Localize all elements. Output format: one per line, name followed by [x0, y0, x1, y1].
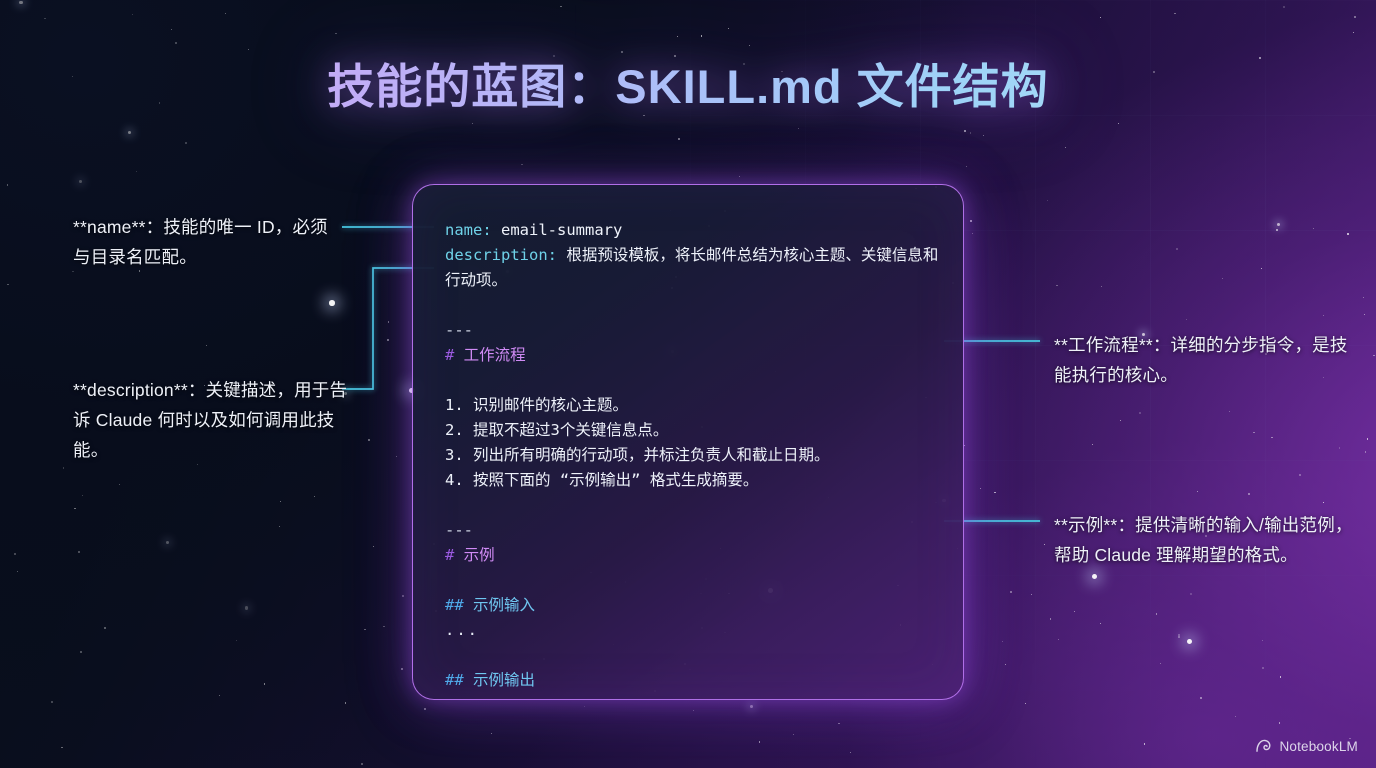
star-particle	[1235, 716, 1236, 717]
star-particle	[1347, 233, 1349, 235]
code-blank-line	[445, 293, 949, 318]
star-particle	[1280, 676, 1281, 677]
star-particle	[621, 51, 623, 53]
star-particle	[44, 18, 45, 19]
slide-canvas: 技能的蓝图：SKILL.md 文件结构 name: email-summaryd…	[0, 0, 1376, 768]
star-particle	[728, 28, 729, 29]
star-particle	[128, 131, 131, 134]
star-particle	[739, 176, 740, 177]
star-particle	[1283, 6, 1285, 8]
code-line-ellipsis: ...	[445, 618, 949, 643]
watermark-label: NotebookLM	[1279, 739, 1358, 754]
star-particle	[19, 1, 22, 4]
star-particle	[225, 13, 226, 14]
star-particle	[1050, 618, 1051, 619]
star-particle	[17, 571, 18, 572]
star-particle	[1190, 593, 1192, 595]
star-particle	[1262, 667, 1263, 668]
star-particle	[1313, 228, 1314, 229]
annotation-description: **description**：关键描述，用于告诉 Claude 何时以及如何调…	[73, 375, 361, 465]
star-particle	[402, 595, 404, 597]
star-particle	[1010, 591, 1012, 593]
star-particle	[1139, 412, 1141, 414]
star-particle	[1074, 611, 1075, 612]
star-particle	[314, 496, 315, 497]
star-particle	[1056, 285, 1057, 286]
star-particle	[750, 705, 753, 708]
star-particle	[1005, 664, 1006, 665]
star-particle	[388, 321, 389, 322]
star-particle	[1200, 697, 1202, 699]
code-line-keyvalue: name: email-summary	[445, 218, 949, 243]
star-particle	[424, 708, 426, 710]
star-particle	[1058, 639, 1059, 640]
star-particle	[82, 495, 83, 496]
code-line-heading1: # 示例	[445, 543, 949, 568]
star-particle	[693, 710, 694, 711]
star-particle	[219, 695, 220, 696]
star-particle	[1276, 229, 1278, 231]
star-particle	[61, 747, 62, 748]
star-particle	[970, 220, 972, 222]
star-particle	[1174, 13, 1175, 14]
star-particle	[7, 284, 8, 285]
code-blank-line	[445, 643, 949, 668]
star-particle	[1144, 743, 1145, 744]
star-particle	[1277, 223, 1280, 226]
annotation-workflow: **工作流程**：详细的分步指令，是技能执行的核心。	[1054, 330, 1354, 390]
code-line-listitem: 1. 识别邮件的核心主题。	[445, 393, 949, 418]
star-particle	[677, 36, 678, 37]
star-particle	[1156, 613, 1157, 614]
star-particle	[584, 706, 585, 707]
star-particle	[994, 492, 995, 493]
star-particle	[1262, 640, 1263, 641]
notebooklm-watermark: NotebookLM	[1255, 738, 1358, 754]
star-particle	[970, 132, 971, 133]
star-particle	[1044, 544, 1045, 545]
page-title: 技能的蓝图：SKILL.md 文件结构	[0, 58, 1376, 117]
star-particle	[119, 484, 120, 485]
star-particle	[166, 541, 169, 544]
star-particle	[1160, 663, 1161, 664]
star-particle	[1222, 278, 1223, 279]
star-particle	[674, 55, 676, 57]
code-line-listitem: 2. 提取不超过3个关键信息点。	[445, 418, 949, 443]
star-particle	[1367, 438, 1368, 439]
star-particle	[850, 752, 851, 753]
star-particle	[1120, 420, 1121, 421]
star-particle	[1178, 636, 1180, 638]
star-particle	[104, 627, 106, 629]
star-particle	[838, 723, 839, 724]
star-particle	[1323, 315, 1324, 316]
star-particle	[1339, 447, 1340, 448]
star-particle	[373, 546, 374, 547]
star-particle	[472, 123, 473, 124]
skill-md-code-card: name: email-summarydescription: 根据预设模板，将…	[412, 184, 964, 700]
star-particle	[1354, 16, 1356, 18]
code-line-keyvalue: description: 根据预设模板，将长邮件总结为核心主题、关键信息和行动项…	[445, 243, 949, 293]
star-particle	[553, 55, 555, 57]
star-particle	[401, 668, 403, 670]
star-particle	[185, 142, 187, 144]
star-particle	[136, 171, 137, 172]
star-particle	[74, 508, 75, 509]
star-particle	[1299, 474, 1301, 476]
star-particle	[383, 626, 384, 627]
star-particle	[1197, 491, 1198, 492]
star-particle	[329, 300, 335, 306]
star-particle	[171, 29, 172, 30]
star-particle	[1373, 355, 1374, 356]
code-blank-line	[445, 493, 949, 518]
star-particle	[983, 135, 984, 136]
star-particle	[759, 741, 760, 742]
star-particle	[1065, 147, 1066, 148]
code-line-heading1: # 工作流程	[445, 343, 949, 368]
star-particle	[1186, 319, 1187, 320]
star-particle	[972, 233, 973, 234]
star-particle	[1353, 32, 1354, 33]
star-particle	[1092, 574, 1098, 580]
star-particle	[1271, 437, 1272, 438]
star-particle	[1100, 623, 1101, 624]
star-particle	[1364, 314, 1365, 315]
star-particle	[63, 467, 64, 468]
star-particle	[491, 733, 492, 734]
star-particle	[560, 6, 561, 7]
star-particle	[1092, 444, 1093, 445]
star-particle	[793, 734, 794, 735]
star-particle	[335, 33, 336, 34]
star-particle	[1047, 200, 1048, 201]
star-particle	[248, 49, 249, 50]
code-line-separator: ---	[445, 518, 949, 543]
star-particle	[279, 526, 280, 527]
star-particle	[236, 640, 237, 641]
annotation-name: **name**：技能的唯一 ID，必须与目录名匹配。	[73, 212, 335, 272]
star-particle	[175, 42, 177, 44]
star-particle	[51, 701, 53, 703]
star-particle	[345, 702, 346, 703]
code-line-ellipsis: ...	[445, 693, 949, 700]
star-particle	[78, 551, 80, 553]
star-particle	[7, 184, 8, 185]
star-particle	[1261, 268, 1262, 269]
annotation-example: **示例**：提供清晰的输入/输出范例，帮助 Claude 理解期望的格式。	[1054, 510, 1354, 570]
star-particle	[964, 445, 965, 446]
star-particle	[280, 501, 281, 502]
star-particle	[206, 345, 207, 346]
star-particle	[1002, 641, 1003, 642]
code-line-listitem: 4. 按照下面的 “示例输出” 格式生成摘要。	[445, 468, 949, 493]
star-particle	[966, 166, 967, 167]
star-particle	[1279, 722, 1280, 723]
code-content: name: email-summarydescription: 根据预设模板，将…	[445, 218, 949, 700]
star-particle	[980, 488, 981, 489]
star-particle	[1248, 493, 1250, 495]
star-particle	[521, 164, 522, 165]
star-particle	[964, 130, 966, 132]
star-particle	[132, 14, 133, 15]
notebooklm-logo-icon	[1255, 738, 1272, 754]
star-particle	[1178, 634, 1180, 636]
star-particle	[678, 138, 680, 140]
star-particle	[1101, 286, 1102, 287]
star-particle	[1187, 639, 1193, 645]
star-particle	[1031, 594, 1032, 595]
star-particle	[79, 180, 82, 183]
code-line-heading2: ## 示例输入	[445, 593, 949, 618]
star-particle	[1253, 432, 1254, 433]
star-particle	[387, 339, 389, 341]
star-particle	[701, 35, 702, 36]
star-particle	[361, 763, 363, 765]
star-particle	[1363, 297, 1364, 298]
star-particle	[1365, 451, 1366, 452]
star-particle	[1176, 248, 1178, 250]
star-particle	[1118, 123, 1119, 124]
star-particle	[245, 606, 248, 609]
star-particle	[1025, 703, 1026, 704]
star-particle	[1323, 502, 1324, 503]
star-particle	[749, 45, 750, 46]
star-particle	[396, 456, 397, 457]
code-blank-line	[445, 368, 949, 393]
code-blank-line	[445, 568, 949, 593]
star-particle	[264, 683, 265, 684]
star-particle	[798, 128, 799, 129]
star-particle	[80, 651, 82, 653]
code-line-separator: ---	[445, 318, 949, 343]
star-particle	[1229, 411, 1230, 412]
star-particle	[14, 553, 16, 555]
code-line-heading2: ## 示例输出	[445, 668, 949, 693]
star-particle	[1100, 17, 1101, 18]
code-line-listitem: 3. 列出所有明确的行动项，并标注负责人和截止日期。	[445, 443, 949, 468]
star-particle	[368, 439, 370, 441]
star-particle	[364, 629, 365, 630]
